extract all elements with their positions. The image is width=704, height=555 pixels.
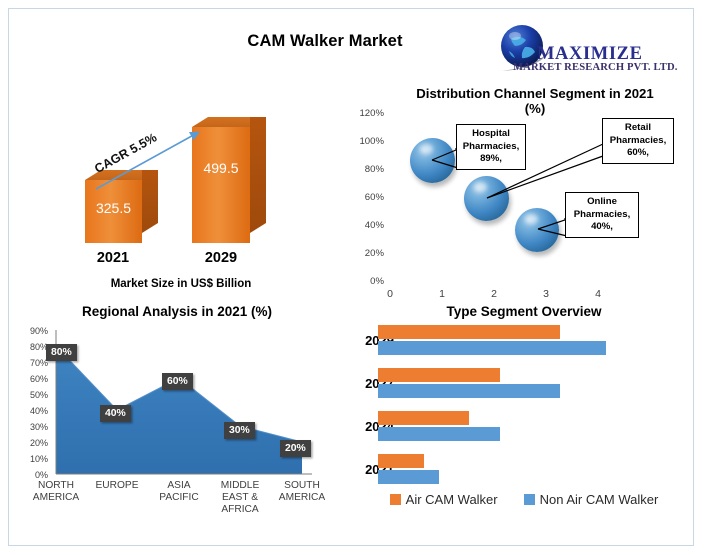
area-xlabel-mea-l1: MIDDLE — [221, 480, 260, 491]
bar-2029-non-air-cam-walker — [378, 341, 606, 355]
callout-online-line1: Online — [568, 196, 636, 209]
callout-online-line3: 40%, — [568, 221, 636, 234]
callout-retail-line2: Pharmacies, — [605, 135, 671, 148]
area-xlabel-south-america-l1: SOUTH — [284, 480, 320, 491]
distribution-channel-bubble-chart: Distribution Channel Segment in 2021 (%)… — [350, 86, 698, 304]
logo-company-subtitle: MARKET RESEARCH PVT. LTD. — [513, 62, 678, 73]
column-category-2029: 2029 — [186, 250, 256, 266]
area-data-label-asia-pacific: 60% — [162, 373, 193, 390]
infographic-canvas: CAM Walker Market MAXIMIZE MARKET RESEAR… — [0, 0, 704, 555]
bar-2027-air-cam-walker — [378, 368, 500, 382]
area-xlabel-europe: EUROPE — [82, 480, 152, 492]
market-size-column-chart: 325.5 499.5 CAGR 5.5% 2021 2029 Market S… — [16, 100, 346, 308]
legend-label-air-cam-walker: Air CAM Walker — [406, 492, 498, 507]
area-series-regional — [12, 300, 342, 500]
area-xlabel-asia-pacific-l2: PACIFIC — [159, 492, 198, 503]
area-xlabel-south-america-l2: AMERICA — [279, 492, 325, 503]
area-xlabel-middle-east-africa: MIDDLE EAST & AFRICA — [205, 480, 275, 516]
area-xlabel-asia-pacific: ASIA PACIFIC — [144, 480, 214, 504]
callout-retail-line1: Retail — [605, 122, 671, 135]
area-xlabel-north-america-l2: AMERICA — [33, 492, 79, 503]
bar-2024-non-air-cam-walker — [378, 427, 500, 441]
callout-hospital-line1: Hospital — [459, 128, 523, 141]
callout-retail-line3: 60%, — [605, 147, 671, 160]
legend-label-non-air-cam-walker: Non Air CAM Walker — [540, 492, 659, 507]
area-xlabel-europe-l1: EUROPE — [95, 480, 138, 491]
callout-online-pharmacies: Online Pharmacies, 40%, — [565, 192, 639, 238]
type-segment-bar-chart: Type Segment Overview 2029 2027 2024 202… — [350, 300, 698, 550]
regional-analysis-area-chart: Regional Analysis in 2021 (%) 90% 80% 70… — [12, 300, 342, 550]
bar-2027-non-air-cam-walker — [378, 384, 560, 398]
callout-hospital-line3: 89%, — [459, 153, 523, 166]
bar-2029-air-cam-walker — [378, 325, 560, 339]
area-xlabel-north-america-l1: NORTH — [38, 480, 74, 491]
callout-hospital-pharmacies: Hospital Pharmacies, 89%, — [456, 124, 526, 170]
market-size-subtitle: Market Size in US$ Billion — [16, 278, 346, 290]
page-title: CAM Walker Market — [160, 32, 490, 51]
area-xlabel-south-america: SOUTH AMERICA — [267, 480, 337, 504]
company-logo: MAXIMIZE MARKET RESEARCH PVT. LTD. — [495, 22, 695, 74]
legend-item-air-cam-walker: Air CAM Walker — [390, 492, 498, 507]
callout-hospital-line2: Pharmacies, — [459, 141, 523, 154]
callout-retail-pharmacies: Retail Pharmacies, 60%, — [602, 118, 674, 164]
legend-swatch-blue — [524, 494, 535, 505]
area-xlabel-asia-pacific-l1: ASIA — [167, 480, 190, 491]
column-category-2021: 2021 — [78, 250, 148, 266]
type-segment-title: Type Segment Overview — [350, 304, 698, 319]
callout-online-line2: Pharmacies, — [568, 209, 636, 222]
bar-2021-non-air-cam-walker — [378, 470, 439, 484]
area-xlabel-north-america: NORTH AMERICA — [21, 480, 91, 504]
area-data-label-south-america: 20% — [280, 440, 311, 457]
area-data-label-europe: 40% — [100, 405, 131, 422]
bar-2024-air-cam-walker — [378, 411, 469, 425]
legend-swatch-orange — [390, 494, 401, 505]
area-xlabel-mea-l3: AFRICA — [221, 504, 258, 515]
area-xlabel-mea-l2: EAST & — [222, 492, 258, 503]
legend-item-non-air-cam-walker: Non Air CAM Walker — [524, 492, 659, 507]
area-data-label-north-america: 80% — [46, 344, 77, 361]
bar-2021-air-cam-walker — [378, 454, 424, 468]
type-segment-legend: Air CAM Walker Non Air CAM Walker — [350, 492, 698, 507]
area-data-label-middle-east-africa: 30% — [224, 422, 255, 439]
